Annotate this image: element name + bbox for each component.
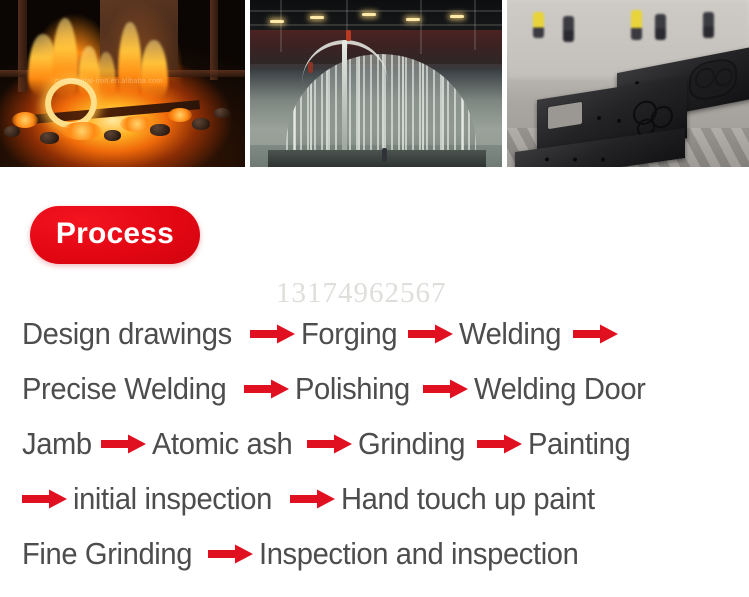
process-flow-line: initial inspectionHand touch up paint bbox=[0, 471, 749, 526]
forge-fire-photo: ornamental-iron.en.alibaba.com bbox=[0, 0, 245, 167]
process-flow-line: Precise WeldingPolishingWelding Door bbox=[0, 361, 749, 416]
right-arrow-icon bbox=[208, 543, 254, 565]
process-badge-label: Process bbox=[56, 219, 174, 251]
right-arrow-icon bbox=[22, 488, 68, 510]
process-badge: Process bbox=[30, 206, 200, 264]
right-arrow-icon bbox=[250, 323, 296, 345]
process-flow: Design drawingsForgingWeldingPrecise Wel… bbox=[0, 306, 749, 581]
process-step-label: Forging bbox=[301, 318, 397, 349]
process-flow-line: JambAtomic ashGrindingPainting bbox=[0, 416, 749, 471]
black-door-panels-photo bbox=[507, 0, 749, 167]
right-arrow-icon bbox=[573, 323, 619, 345]
process-flow-line: Design drawingsForgingWelding bbox=[0, 306, 749, 361]
process-step-label: Welding Door bbox=[474, 373, 646, 404]
photo-strip: ornamental-iron.en.alibaba.com bbox=[0, 0, 749, 167]
process-flow-line: Fine GrindingInspection and inspection bbox=[0, 526, 749, 581]
process-step-label: Inspection and inspection bbox=[259, 538, 578, 569]
right-arrow-icon bbox=[290, 488, 336, 510]
process-step-label: Atomic ash bbox=[152, 428, 292, 459]
right-arrow-icon bbox=[423, 378, 469, 400]
process-infographic-page: ornamental-iron.en.alibaba.com bbox=[0, 0, 749, 597]
process-step-label: Precise Welding bbox=[22, 373, 226, 404]
right-arrow-icon bbox=[408, 323, 454, 345]
right-arrow-icon bbox=[244, 378, 290, 400]
process-step-label: Welding bbox=[459, 318, 561, 349]
process-step-label: initial inspection bbox=[73, 483, 272, 514]
right-arrow-icon bbox=[307, 433, 353, 455]
photo-watermark-text: ornamental-iron.en.alibaba.com bbox=[55, 78, 162, 85]
steel-arch-workshop-photo bbox=[250, 0, 502, 167]
process-step-label: Polishing bbox=[295, 373, 410, 404]
process-step-label: Design drawings bbox=[22, 318, 232, 349]
right-arrow-icon bbox=[101, 433, 147, 455]
process-step-label: Painting bbox=[528, 428, 630, 459]
process-step-label: Grinding bbox=[358, 428, 465, 459]
right-arrow-icon bbox=[477, 433, 523, 455]
process-step-label: Hand touch up paint bbox=[341, 483, 595, 514]
process-step-label: Fine Grinding bbox=[22, 538, 192, 569]
process-step-label: Jamb bbox=[22, 428, 92, 459]
